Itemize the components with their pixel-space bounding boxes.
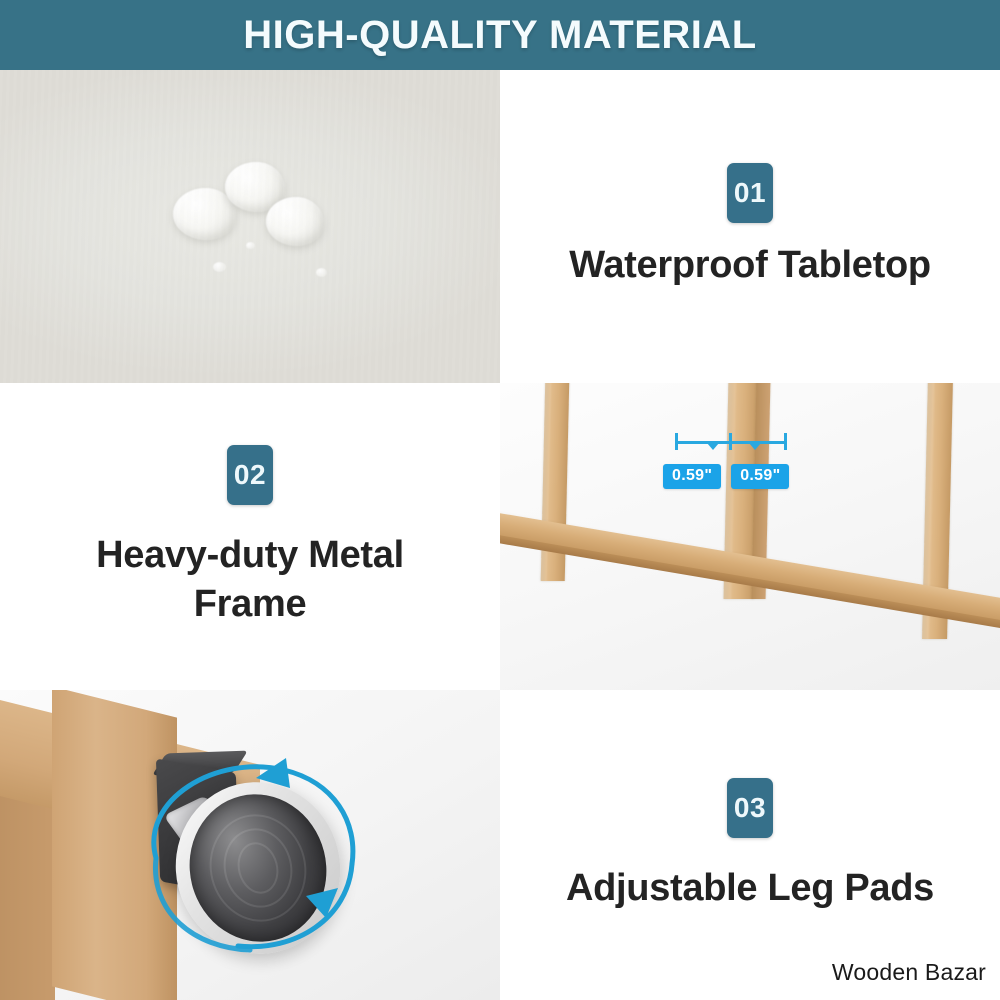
water-droplet-icon bbox=[213, 262, 226, 272]
leg-pad-scene bbox=[0, 690, 500, 1000]
feature-03-title: Adjustable Leg Pads bbox=[566, 864, 934, 913]
water-droplet-icon bbox=[266, 197, 324, 246]
feature-grid: 01 Waterproof Tabletop 02 Heavy-duty Met… bbox=[0, 70, 1000, 1000]
feature-03-number-badge: 03 bbox=[727, 778, 773, 838]
feature-03-text-block: 03 Adjustable Leg Pads bbox=[500, 690, 1000, 1000]
feature-01-title: Waterproof Tabletop bbox=[569, 241, 931, 290]
adjustable-leg-pad-render bbox=[0, 690, 500, 1000]
feature-02-title-line1: Heavy-duty Metal bbox=[96, 534, 404, 576]
feature-02-number-badge: 02 bbox=[227, 445, 273, 505]
dimension-label-group: 0.59" 0.59" bbox=[663, 464, 789, 489]
page-title: HIGH-QUALITY MATERIAL bbox=[243, 13, 756, 58]
dimension-tick-icon bbox=[675, 433, 678, 450]
dimension-label-left: 0.59" bbox=[663, 464, 721, 489]
tabletop-surface bbox=[0, 70, 500, 383]
feature-02-title-line2: Frame bbox=[194, 583, 307, 625]
frame-scene: 0.59" 0.59" bbox=[500, 383, 1000, 690]
watermark-text: Wooden Bazar bbox=[832, 959, 986, 986]
dimension-label-right: 0.59" bbox=[731, 464, 789, 489]
feature-02-text-block: 02 Heavy-duty Metal Frame bbox=[0, 383, 500, 690]
waterproof-tabletop-photo bbox=[0, 70, 500, 383]
rotation-arrow-icon bbox=[120, 740, 400, 990]
feature-02-title: Heavy-duty Metal Frame bbox=[96, 531, 404, 628]
water-droplet-icon bbox=[173, 188, 236, 240]
water-droplet-icon bbox=[316, 268, 327, 277]
feature-01-number-badge: 01 bbox=[727, 163, 773, 223]
dimension-tick-icon bbox=[784, 433, 787, 450]
metal-frame-render: 0.59" 0.59" bbox=[500, 383, 1000, 690]
water-droplet-icon bbox=[246, 242, 255, 249]
feature-01-text-block: 01 Waterproof Tabletop bbox=[500, 70, 1000, 383]
header-banner: HIGH-QUALITY MATERIAL bbox=[0, 0, 1000, 70]
dimension-tick-icon bbox=[729, 433, 732, 450]
dimension-arrow-icon bbox=[707, 443, 719, 450]
dimension-arrow-icon bbox=[749, 443, 761, 450]
water-droplet-icon bbox=[225, 162, 285, 212]
